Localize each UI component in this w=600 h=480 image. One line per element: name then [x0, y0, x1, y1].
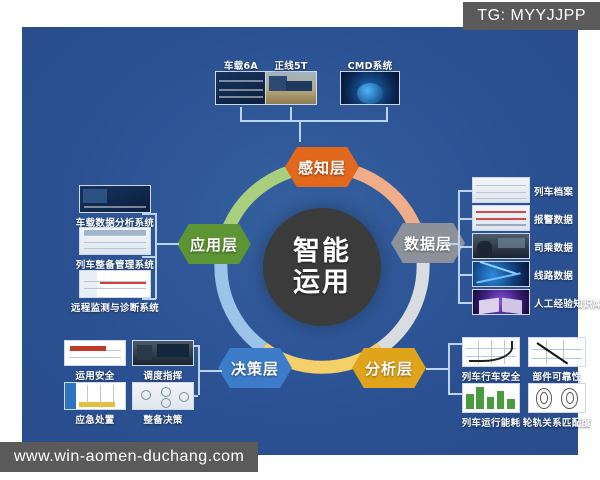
connector-bl-bus [198, 345, 200, 395]
thumb-onboard-data-analysis[interactable] [79, 185, 151, 213]
connector-right-branch-3 [458, 246, 472, 248]
center-line-1: 智能 [293, 236, 351, 267]
diagram-canvas: 智能 运用 感知层 数据层 分析层 决策层 应用层 车载6A 正线5T CMD系… [0, 0, 600, 480]
caption-vehicle-6a: 车载6A [224, 58, 258, 72]
thumb-line-data[interactable] [472, 261, 530, 287]
connector-left-stem [155, 243, 179, 245]
node-decision[interactable]: 决策层 [218, 348, 292, 388]
watermark-bottom-left: www.win-aomen-duchang.com [0, 442, 258, 472]
thumb-remote-monitor-diagnosis[interactable] [79, 270, 151, 298]
connector-top-drop-2 [290, 107, 292, 121]
blue-panel: 智能 运用 感知层 数据层 分析层 决策层 应用层 车载6A 正线5T CMD系… [22, 27, 578, 455]
connector-right-branch-5 [458, 302, 472, 304]
connector-right-branch-1 [458, 190, 472, 192]
connector-top-drop-3 [386, 107, 388, 121]
thumb-train-energy-consumption[interactable] [462, 383, 520, 413]
node-application[interactable]: 应用层 [177, 224, 251, 264]
caption-train-energy-consumption: 列车运行能耗 [462, 415, 521, 429]
thumb-vehicle-6a[interactable] [215, 71, 267, 105]
thumb-emergency-response[interactable] [64, 382, 126, 410]
caption-line-data: 线路数据 [534, 268, 573, 282]
connector-top-bus [240, 120, 388, 122]
caption-train-archive: 列车档案 [534, 184, 573, 198]
caption-operational-safety: 运用安全 [75, 368, 114, 382]
connector-top-drop-1 [240, 107, 242, 121]
caption-crew-data: 司乘数据 [534, 240, 573, 254]
connector-br-bus [448, 343, 450, 393]
caption-mainline-5t: 正线5T [274, 58, 307, 72]
center-hub: 智能 运用 [263, 208, 381, 326]
connector-right-stem [445, 243, 459, 245]
node-analysis[interactable]: 分析层 [352, 348, 426, 388]
thumb-dispatch-command[interactable] [132, 340, 194, 366]
caption-train-running-safety: 列车行车安全 [462, 369, 521, 383]
caption-dispatch-command: 调度指挥 [143, 368, 182, 382]
thumb-cmd-system[interactable] [340, 71, 400, 105]
connector-right-branch-4 [458, 274, 472, 276]
caption-alarm-data: 报警数据 [534, 212, 573, 226]
thumb-expert-knowledge-base[interactable] [472, 289, 530, 315]
caption-train-maintenance-mgmt: 列车整备管理系统 [76, 257, 154, 271]
caption-expert-knowledge-base: 人工经验知识库 [534, 296, 600, 310]
thumb-component-reliability[interactable] [528, 337, 586, 367]
thumb-wheel-rail-matching[interactable] [528, 383, 586, 413]
connector-br-branch-1 [448, 343, 462, 345]
caption-component-reliability: 部件可靠性 [532, 369, 581, 383]
center-line-2: 运用 [293, 267, 351, 298]
caption-remote-monitor-diagnosis: 远程监测与诊断系统 [71, 300, 159, 314]
thumb-train-maintenance-mgmt[interactable] [79, 227, 151, 255]
thumb-mainline-5t[interactable] [265, 71, 317, 105]
caption-maintenance-decision: 整备决策 [143, 412, 182, 426]
thumb-crew-data[interactable] [472, 233, 530, 259]
caption-wheel-rail-matching: 轮轨关系匹配度 [523, 415, 592, 429]
connector-br-stem [426, 368, 450, 370]
caption-cmd-system: CMD系统 [348, 58, 393, 72]
node-perception[interactable]: 感知层 [285, 147, 359, 187]
thumb-train-running-safety[interactable] [462, 337, 520, 367]
thumb-operational-safety[interactable] [64, 340, 126, 366]
thumb-alarm-data[interactable] [472, 205, 530, 231]
watermark-top-right: TG: MYYJJPP [463, 2, 600, 30]
thumb-maintenance-decision[interactable] [132, 382, 194, 410]
connector-br-branch-2 [448, 393, 462, 395]
thumb-train-archive[interactable] [472, 177, 530, 203]
connector-right-branch-2 [458, 218, 472, 220]
caption-emergency-response: 应急处置 [75, 412, 114, 426]
connector-top-stem [299, 120, 301, 142]
connector-bl-stem [198, 370, 222, 372]
